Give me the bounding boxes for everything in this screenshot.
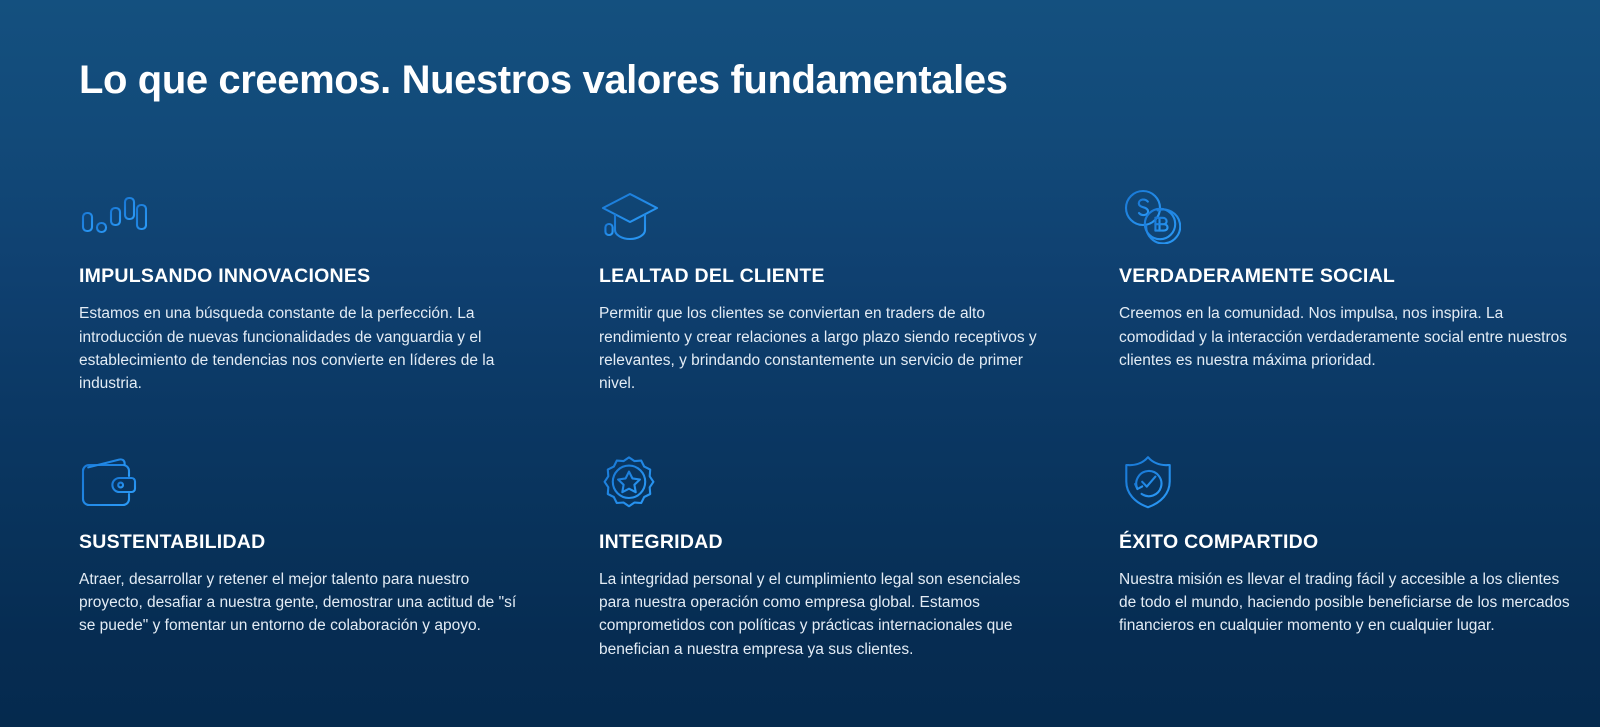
candlestick-chart-icon bbox=[79, 188, 539, 244]
value-card-sustentabilidad: SUSTENTABILIDAD Atraer, desarrollar y re… bbox=[79, 454, 539, 661]
value-card-social: VERDADERAMENTE SOCIAL Creemos en la comu… bbox=[1119, 188, 1579, 395]
value-heading: SUSTENTABILIDAD bbox=[79, 532, 539, 553]
coins-dollar-bitcoin-icon bbox=[1119, 188, 1579, 244]
values-grid: IMPULSANDO INNOVACIONES Estamos en una b… bbox=[79, 188, 1554, 661]
value-card-lealtad: LEALTAD DEL CLIENTE Permitir que los cli… bbox=[599, 188, 1059, 395]
award-badge-star-icon bbox=[599, 454, 1059, 510]
value-card-exito: ÉXITO COMPARTIDO Nuestra misión es lleva… bbox=[1119, 454, 1579, 661]
value-heading: LEALTAD DEL CLIENTE bbox=[599, 266, 1059, 287]
graduation-cap-icon bbox=[599, 188, 1059, 244]
value-heading: IMPULSANDO INNOVACIONES bbox=[79, 266, 539, 287]
value-card-integridad: INTEGRIDAD La integridad personal y el c… bbox=[599, 454, 1059, 661]
value-body: La integridad personal y el cumplimiento… bbox=[599, 568, 1051, 660]
wallet-icon bbox=[79, 454, 539, 510]
value-heading: INTEGRIDAD bbox=[599, 532, 1059, 553]
value-card-innovaciones: IMPULSANDO INNOVACIONES Estamos en una b… bbox=[79, 188, 539, 395]
value-body: Atraer, desarrollar y retener el mejor t… bbox=[79, 568, 524, 637]
value-body: Permitir que los clientes se conviertan … bbox=[599, 302, 1051, 394]
value-heading: VERDADERAMENTE SOCIAL bbox=[1119, 266, 1579, 287]
value-body: Creemos en la comunidad. Nos impulsa, no… bbox=[1119, 302, 1579, 371]
value-body: Estamos en una búsqueda constante de la … bbox=[79, 302, 524, 394]
value-body: Nuestra misión es llevar el trading fáci… bbox=[1119, 568, 1579, 637]
value-heading: ÉXITO COMPARTIDO bbox=[1119, 532, 1579, 553]
page-title: Lo que creemos. Nuestros valores fundame… bbox=[79, 57, 1008, 104]
values-section: Lo que creemos. Nuestros valores fundame… bbox=[0, 0, 1600, 727]
shield-check-icon bbox=[1119, 454, 1579, 510]
